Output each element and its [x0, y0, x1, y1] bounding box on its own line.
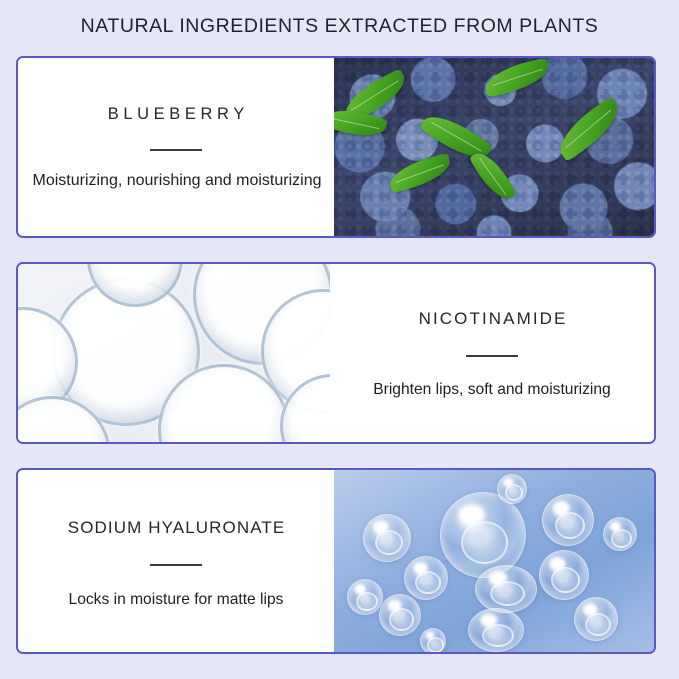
card-text-pane: NICOTINAMIDE Brighten lips, soft and moi… — [330, 264, 654, 442]
ingredient-name: SODIUM HYALURONATE — [67, 518, 286, 538]
clear-bubbles-photo — [18, 264, 330, 442]
bubble-shape — [379, 594, 421, 636]
bubble-shape — [475, 565, 537, 613]
blueberry-photo — [334, 58, 654, 236]
card-text-pane: SODIUM HYALURONATE Locks in moisture for… — [18, 470, 334, 652]
ingredient-card-nicotinamide[interactable]: NICOTINAMIDE Brighten lips, soft and moi… — [16, 262, 656, 444]
title-divider — [150, 149, 202, 151]
card-inner: BLUEBERRY Moisturizing, nourishing and m… — [18, 58, 654, 236]
card-image-clear-bubbles — [18, 264, 330, 442]
blue-bubbles-photo — [334, 470, 654, 652]
title-divider — [466, 355, 518, 357]
bubble-shape — [404, 556, 448, 600]
card-image-blueberries — [334, 58, 654, 236]
bubble-shape — [539, 550, 589, 600]
bubble-shape — [542, 494, 594, 546]
ingredients-infographic: NATURAL INGREDIENTS EXTRACTED FROM PLANT… — [0, 0, 679, 679]
ingredient-name: BLUEBERRY — [103, 105, 249, 124]
bubble-shape — [497, 474, 527, 504]
ingredient-description: Locks in moisture for matte lips — [69, 591, 284, 609]
header: NATURAL INGREDIENTS EXTRACTED FROM PLANT… — [0, 0, 679, 52]
ingredient-card-blueberry[interactable]: BLUEBERRY Moisturizing, nourishing and m… — [16, 56, 656, 238]
bubble-shape — [347, 579, 383, 615]
ingredient-description: Moisturizing, nourishing and moisturizin… — [18, 172, 342, 190]
bubble-shape — [363, 514, 411, 562]
page-title: NATURAL INGREDIENTS EXTRACTED FROM PLANT… — [81, 15, 599, 38]
card-inner: NICOTINAMIDE Brighten lips, soft and moi… — [18, 264, 654, 442]
bubble-shape — [420, 628, 446, 652]
ingredient-name: NICOTINAMIDE — [416, 309, 567, 329]
card-text-pane: BLUEBERRY Moisturizing, nourishing and m… — [18, 58, 334, 236]
card-image-blue-bubbles — [334, 470, 654, 652]
ingredient-card-sodium-hyaluronate[interactable]: SODIUM HYALURONATE Locks in moisture for… — [16, 468, 656, 654]
ingredient-description: Brighten lips, soft and moisturizing — [373, 381, 611, 399]
title-divider — [150, 564, 202, 566]
bubble-shape — [603, 517, 637, 551]
card-inner: SODIUM HYALURONATE Locks in moisture for… — [18, 470, 654, 652]
